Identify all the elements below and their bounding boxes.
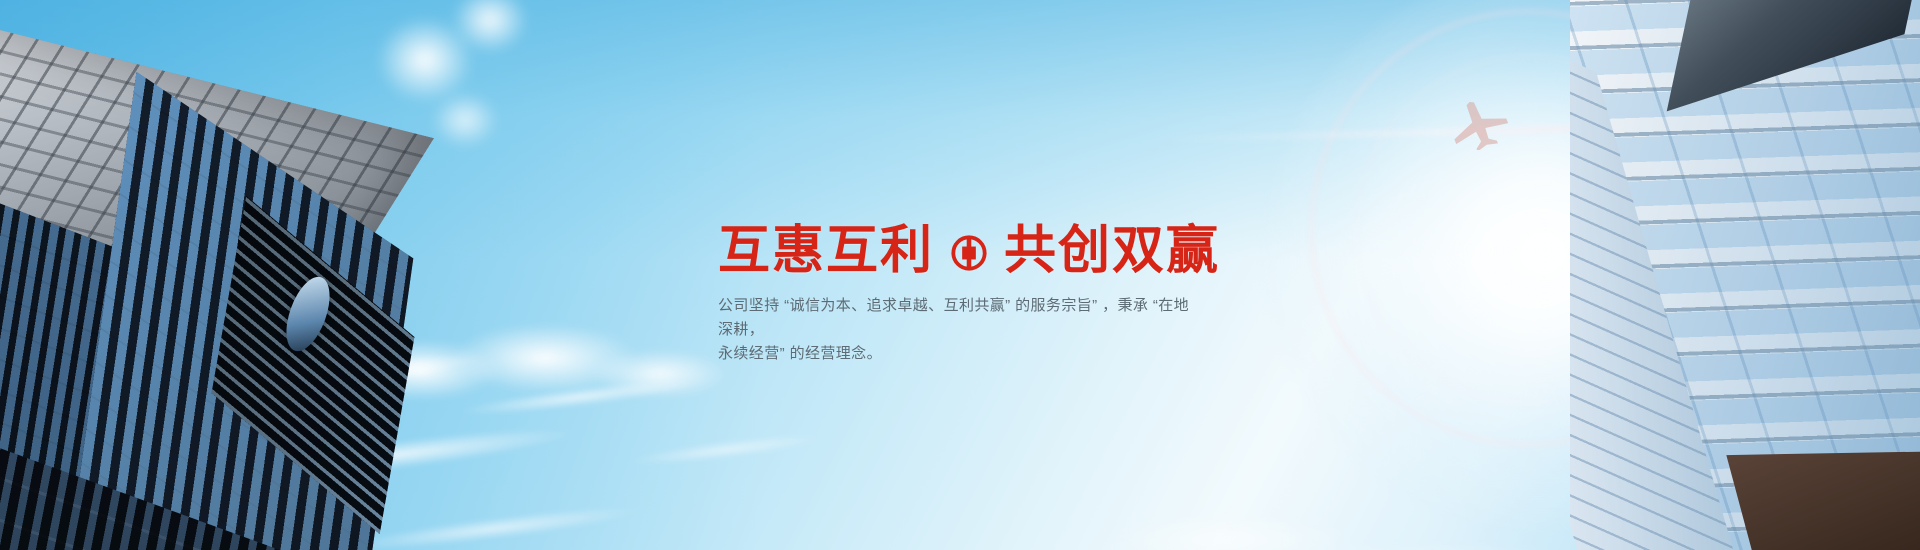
building-left-dark-tower xyxy=(0,95,460,550)
hero-subtitle-line-2: 永续经营” 的经营理念。 xyxy=(718,342,1198,366)
airplane-icon xyxy=(1448,96,1510,150)
coin-emblem-icon xyxy=(950,234,988,272)
hero-subtitle: 公司坚持 “诚信为本、追求卓越、互利共赢” 的服务宗旨” ，秉承 “在地深耕， … xyxy=(718,294,1198,366)
hero-headline: 互惠互利 共创双赢 xyxy=(718,222,1358,280)
headline-left-text: 互惠互利 xyxy=(718,222,934,280)
hero-banner: 互惠互利 共创双赢 公司坚持 “诚信为本、追求卓越、互利共赢” 的服务宗旨” ，… xyxy=(0,0,1920,550)
hero-copy-block: 互惠互利 共创双赢 公司坚持 “诚信为本、追求卓越、互利共赢” 的服务宗旨” ，… xyxy=(718,222,1358,366)
cloud-bottom-right xyxy=(1080,440,1600,550)
hero-subtitle-line-1: 公司坚持 “诚信为本、追求卓越、互利共赢” 的服务宗旨” ，秉承 “在地深耕， xyxy=(718,294,1198,342)
building-right-light-tower xyxy=(1570,0,1920,550)
building-right-base-shadow xyxy=(1726,450,1920,550)
headline-right-text: 共创双赢 xyxy=(1004,222,1220,280)
